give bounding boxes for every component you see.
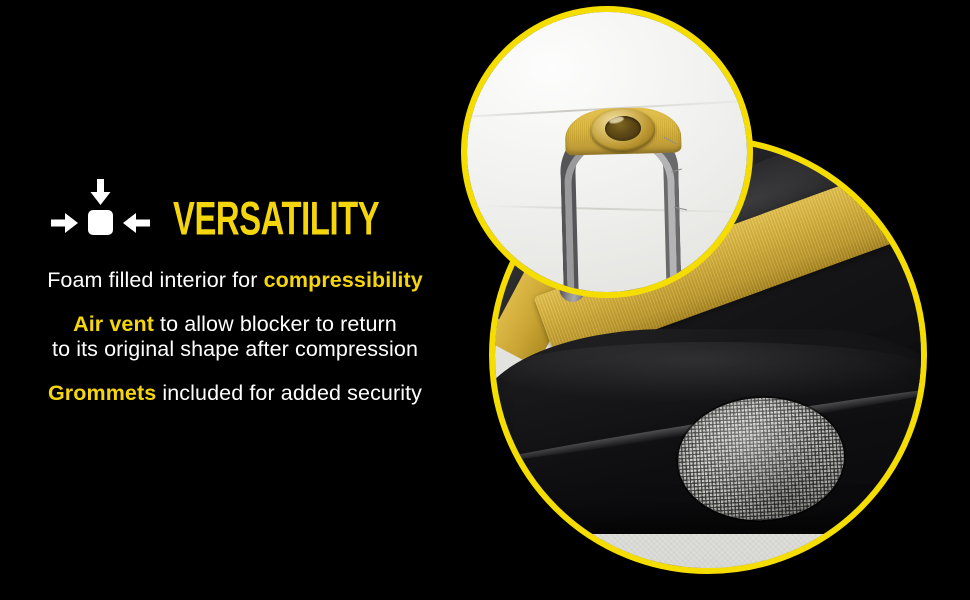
page-title: VERSATILITY xyxy=(173,195,379,242)
highlight-term: compressibility xyxy=(264,268,423,292)
strap-loop-highlight xyxy=(563,135,678,298)
stray-thread xyxy=(674,207,687,211)
feature-bullets: Foam filled interior for compressibility… xyxy=(0,268,470,406)
strap-tail-right xyxy=(627,136,668,271)
backdrop-seam-lower xyxy=(484,205,742,213)
bullet-air-vent: Air vent to allow blocker to returnto it… xyxy=(0,312,470,362)
air-vent-detail-photo xyxy=(489,136,927,574)
bullet-compressibility: Foam filled interior for compressibility xyxy=(0,268,470,293)
strap-tail-left xyxy=(557,136,612,305)
bag-front-panel xyxy=(489,329,927,533)
mesh-air-vent xyxy=(675,393,847,524)
backdrop-seam-upper xyxy=(461,97,753,119)
body-text: to allow blocker to return xyxy=(154,312,397,336)
highlight-term: Air vent xyxy=(73,312,154,336)
yellow-stripe xyxy=(534,140,927,365)
stitch-seam xyxy=(490,382,927,467)
heading-row: VERSATILITY xyxy=(0,174,470,260)
bullet-grommets: Grommets included for added security xyxy=(0,381,470,406)
strap-loop xyxy=(559,118,683,298)
grommet-highlight xyxy=(608,115,624,124)
bag-upper-body xyxy=(588,136,927,423)
bullet-line: Foam filled interior for compressibility xyxy=(0,268,470,293)
grommet-detail-photo xyxy=(461,6,753,298)
bullet-line: Air vent to allow blocker to return xyxy=(0,312,470,337)
body-text: included for added security xyxy=(156,381,422,405)
grommet-ring xyxy=(590,108,655,152)
compression-arrows-icon xyxy=(45,177,155,257)
bullet-line: Grommets included for added security xyxy=(0,381,470,406)
bag-side-panel xyxy=(489,136,618,345)
yellow-stripe-secondary xyxy=(489,228,596,367)
grommet-hole xyxy=(605,115,642,141)
yellow-webbing-band xyxy=(564,106,681,155)
highlight-term: Grommets xyxy=(48,381,156,405)
stray-thread xyxy=(671,169,682,173)
body-text: to its original shape after compression xyxy=(52,337,418,361)
feature-banner: VERSATILITY Foam filled interior for com… xyxy=(0,0,970,600)
bullet-line: to its original shape after compression xyxy=(0,337,470,362)
body-text: Foam filled interior for xyxy=(47,268,263,292)
stray-thread xyxy=(664,137,677,144)
background-surface xyxy=(489,389,927,568)
text-panel: VERSATILITY Foam filled interior for com… xyxy=(0,0,470,600)
